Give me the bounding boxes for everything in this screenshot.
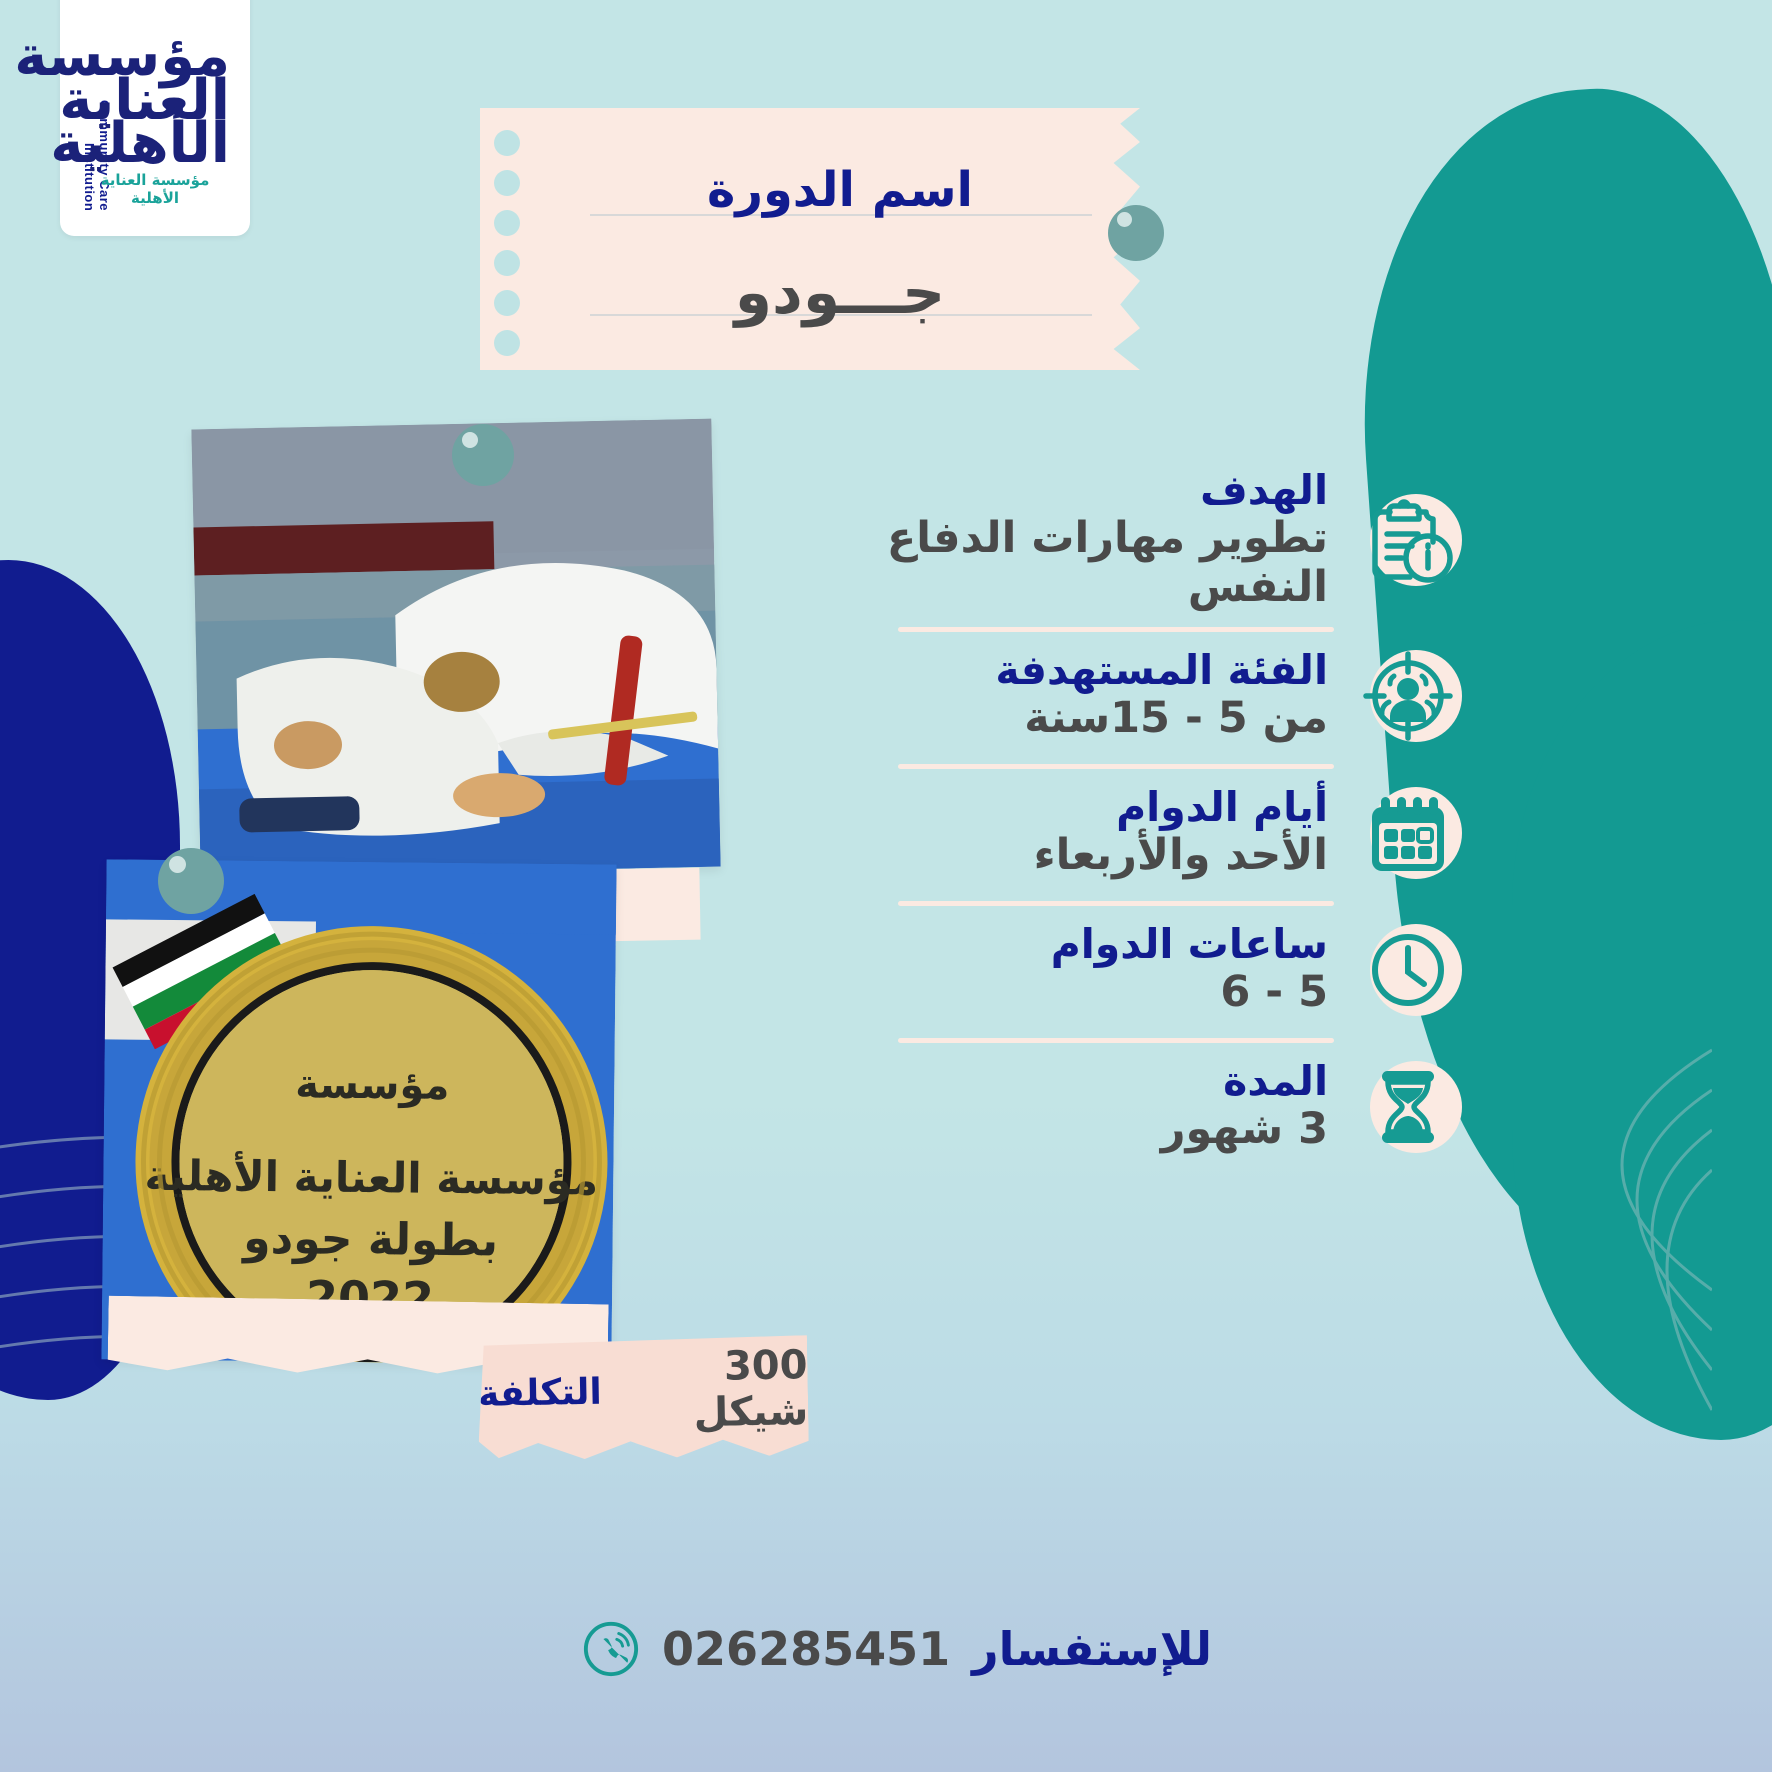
info-value: تطوير مهارات الدفاع النفس <box>866 514 1328 613</box>
punch-hole <box>494 250 520 276</box>
poster-canvas: Community Care Institution مؤسسة العناية… <box>0 0 1772 1772</box>
info-value: الأحد والأربعاء <box>866 831 1328 880</box>
punch-hole <box>494 170 520 196</box>
info-value: 3 شهور <box>866 1105 1328 1154</box>
info-text-days: أيام الدوام الأحد والأربعاء <box>862 785 1328 880</box>
cost-value: 300 شيكل <box>613 1342 809 1437</box>
contact-phone-number[interactable]: 026285451 <box>662 1622 950 1676</box>
info-row-duration: المدة 3 شهور <box>862 1047 1462 1171</box>
clock-icon <box>1354 916 1462 1024</box>
logo-inner: Community Care Institution مؤسسة العناية… <box>80 11 230 211</box>
info-label: ساعات الدوام <box>866 922 1328 968</box>
phone-ring-icon[interactable] <box>582 1620 640 1678</box>
clipboard-info-icon <box>1354 486 1462 594</box>
info-text-audience: الفئة المستهدفة من 5 - 15سنة <box>862 648 1328 743</box>
info-value: 5 - 6 <box>866 968 1328 1017</box>
cost-label: التكلفة <box>478 1371 603 1414</box>
decorative-dot <box>158 848 224 914</box>
hourglass-icon <box>1354 1053 1462 1161</box>
target-audience-icon <box>1354 642 1462 750</box>
info-row-days: أيام الدوام الأحد والأربعاء <box>862 773 1462 897</box>
svg-text:مؤسسة: مؤسسة <box>295 1061 450 1109</box>
course-details-list: الهدف تطوير مهارات الدفاع النفس <box>862 462 1462 1171</box>
logo-tagline: مؤسسة العناية الأهلية <box>80 171 230 207</box>
punch-hole <box>494 290 520 316</box>
decorative-dot <box>1108 205 1164 261</box>
judo-medal-photo: مؤسسة مؤسسة العناية الأهلية بطولة جودو 2… <box>101 859 616 1364</box>
info-separator <box>898 1038 1334 1043</box>
contact-label: للإستفسار <box>972 1622 1212 1676</box>
info-text-duration: المدة 3 شهور <box>862 1059 1328 1154</box>
calendar-icon <box>1354 779 1462 887</box>
info-label: الفئة المستهدفة <box>866 648 1328 694</box>
info-label: المدة <box>866 1059 1328 1105</box>
contact-bar: للإستفسار 026285451 <box>582 1620 1212 1678</box>
info-separator <box>898 764 1334 769</box>
logo-arabic-text: مؤسسة العناية الأهلية <box>80 35 230 166</box>
info-separator <box>898 627 1334 632</box>
info-text-goal: الهدف تطوير مهارات الدفاع النفس <box>862 468 1328 613</box>
info-row-hours: ساعات الدوام 5 - 6 <box>862 910 1462 1034</box>
punch-hole <box>494 330 520 356</box>
info-row-audience: الفئة المستهدفة من 5 - 15سنة <box>862 636 1462 760</box>
punch-hole <box>494 210 520 236</box>
course-name-card: اسم الدورة جـــودو <box>480 108 1140 370</box>
info-separator <box>898 901 1334 906</box>
organization-logo-card: Community Care Institution مؤسسة العناية… <box>60 0 250 236</box>
info-label: الهدف <box>866 468 1328 514</box>
info-label: أيام الدوام <box>866 785 1328 831</box>
judo-training-photo <box>191 419 720 878</box>
decorative-dot <box>452 424 514 486</box>
cost-badge: 300 شيكل التكلفة <box>477 1335 809 1461</box>
info-row-goal: الهدف تطوير مهارات الدفاع النفس <box>862 462 1462 623</box>
punch-hole <box>494 130 520 156</box>
svg-text:مؤسسة العناية الأهلية: مؤسسة العناية الأهلية <box>144 1150 598 1206</box>
course-name-label: اسم الدورة <box>600 162 1080 218</box>
info-value: من 5 - 15سنة <box>866 694 1328 743</box>
course-name-value: جـــودو <box>600 258 1080 328</box>
svg-text:بطولة جودو: بطولة جودو <box>241 1213 498 1267</box>
info-text-hours: ساعات الدوام 5 - 6 <box>862 922 1328 1017</box>
